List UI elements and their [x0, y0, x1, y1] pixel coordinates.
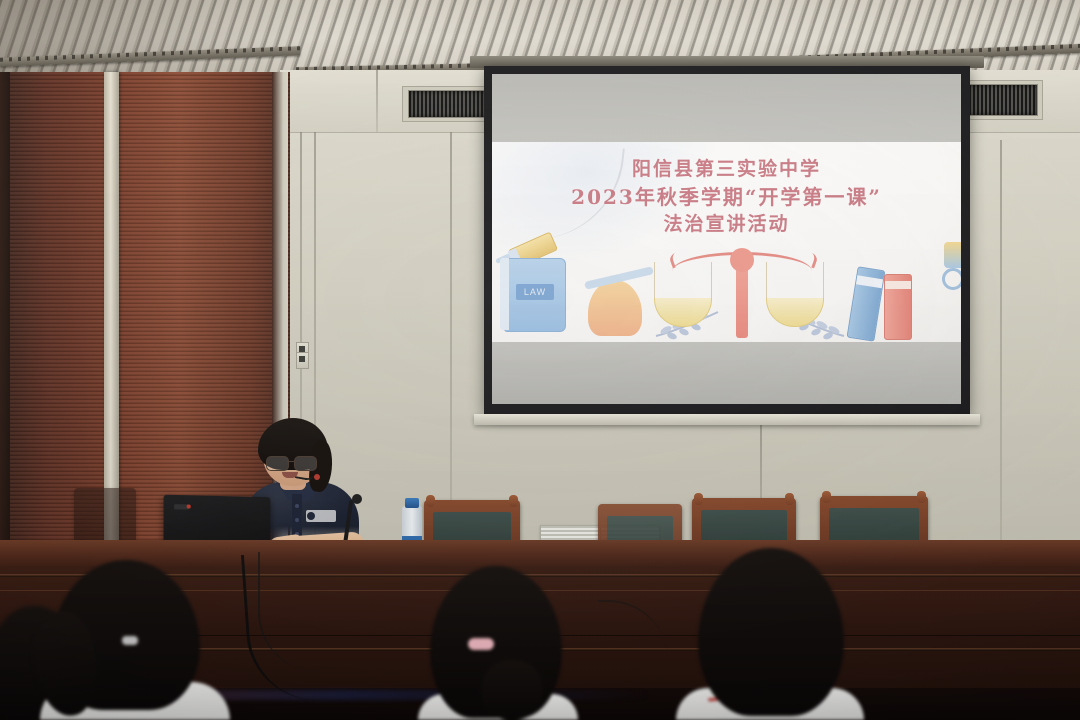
wall-outlet[interactable]	[296, 352, 309, 369]
air-vent-grille-center	[408, 90, 490, 118]
laptop-logo	[174, 504, 189, 509]
screen-bottom-trim	[474, 414, 980, 425]
screen-letterbox-bottom	[492, 342, 961, 404]
lecture-hall-photo: 阳信县第三实验中学 2023年秋季学期“开学第一课” 法治宣讲活动 LAW	[0, 0, 1080, 720]
projection-screen: 阳信县第三实验中学 2023年秋季学期“开学第一课” 法治宣讲活动 LAW	[484, 66, 970, 414]
stage-edge	[0, 540, 1080, 568]
blue-book-icon	[847, 266, 886, 341]
corner-decoration	[944, 242, 961, 268]
law-book-label: LAW	[516, 284, 554, 300]
student-center-pink-hair-clip	[468, 638, 494, 650]
wall-seam-6	[1000, 140, 1002, 540]
slide-title-line-2: 2023年秋季学期“开学第一课”	[492, 183, 961, 211]
red-book-icon	[884, 274, 912, 340]
headset-microphone-tip	[314, 474, 320, 480]
student-center-hair-lower	[482, 660, 542, 720]
water-bottle-cap	[405, 498, 419, 508]
student-left-hair-clip	[122, 636, 138, 645]
shirt-button-2	[295, 518, 299, 522]
slide-content: 阳信县第三实验中学 2023年秋季学期“开学第一课” 法治宣讲活动 LAW	[492, 142, 961, 342]
slide-illustration-row: LAW	[492, 234, 961, 342]
corner-ring-decoration	[942, 268, 961, 290]
law-book-spine	[500, 258, 509, 330]
screen-surface: 阳信县第三实验中学 2023年秋季学期“开学第一课” 法治宣讲活动 LAW	[492, 74, 961, 404]
shirt-chest-logo	[306, 510, 336, 522]
desk-microphone-head	[352, 494, 362, 504]
screen-letterbox-top	[492, 74, 961, 142]
wall-seam-3	[450, 132, 452, 540]
wood-wall-dark-edge	[0, 72, 10, 552]
wood-wall-divider-strip	[104, 72, 119, 552]
statue-bowl-icon	[588, 280, 642, 336]
wall-seam-4	[376, 70, 378, 132]
slide-title-line-1: 阳信县第三实验中学	[492, 156, 961, 183]
air-vent-grille-right	[960, 84, 1038, 116]
slide-title-block: 阳信县第三实验中学 2023年秋季学期“开学第一课” 法治宣讲活动	[492, 156, 961, 238]
wood-panel-wall	[0, 72, 290, 552]
scales-knob	[730, 248, 754, 272]
shirt-button-1	[295, 504, 299, 508]
